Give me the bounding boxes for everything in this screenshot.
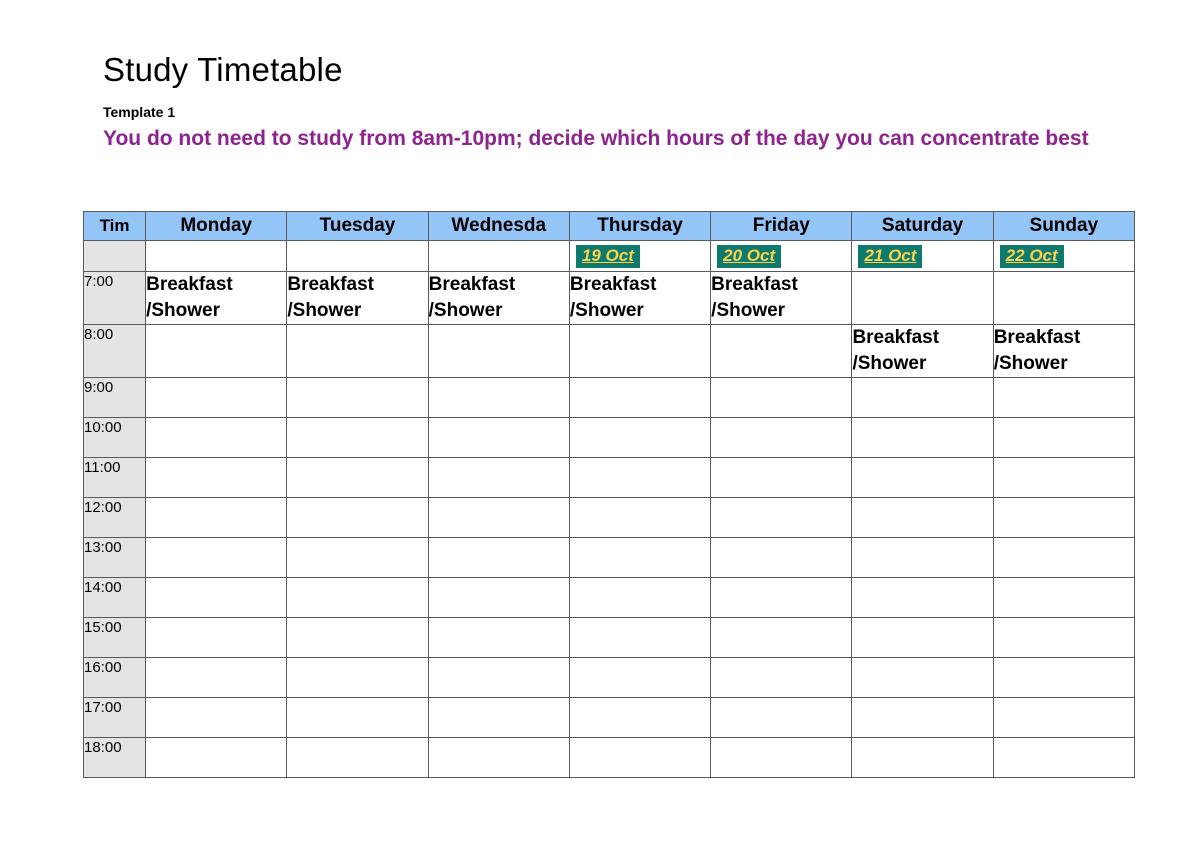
date-cell-wednesday[interactable] <box>428 241 569 272</box>
slot-wednesday-14-00[interactable] <box>428 578 569 618</box>
slot-friday-18-00[interactable] <box>711 738 852 778</box>
slot-friday-11-00[interactable] <box>711 458 852 498</box>
slot-entry: Breakfast /Shower <box>146 272 286 324</box>
slot-entry: Breakfast /Shower <box>287 272 427 324</box>
date-row-time-cell <box>84 241 146 272</box>
slot-sunday-14-00[interactable] <box>993 578 1134 618</box>
slot-saturday-7-00[interactable] <box>852 272 993 325</box>
date-badge-sunday: 22 Oct <box>1000 245 1064 268</box>
slot-thursday-17-00[interactable] <box>569 698 710 738</box>
slot-thursday-10-00[interactable] <box>569 418 710 458</box>
table-row: 13:00 <box>84 538 1135 578</box>
time-label-8-00: 8:00 <box>84 325 146 378</box>
date-badge-thursday: 19 Oct <box>576 245 640 268</box>
slot-sunday-13-00[interactable] <box>993 538 1134 578</box>
slot-tuesday-15-00[interactable] <box>287 618 428 658</box>
slot-sunday-10-00[interactable] <box>993 418 1134 458</box>
slot-saturday-18-00[interactable] <box>852 738 993 778</box>
slot-wednesday-18-00[interactable] <box>428 738 569 778</box>
slot-tuesday-9-00[interactable] <box>287 378 428 418</box>
slot-sunday-9-00[interactable] <box>993 378 1134 418</box>
slot-tuesday-14-00[interactable] <box>287 578 428 618</box>
date-row: 19 Oct20 Oct21 Oct22 Oct <box>84 241 1135 272</box>
column-header-friday: Friday <box>711 212 852 241</box>
table-row: 8:00Breakfast /ShowerBreakfast /Shower <box>84 325 1135 378</box>
timetable-body: 19 Oct20 Oct21 Oct22 Oct7:00Breakfast /S… <box>84 241 1135 778</box>
slot-entry: Breakfast /Shower <box>711 272 851 324</box>
slot-entry: Breakfast /Shower <box>994 325 1134 377</box>
slot-wednesday-8-00[interactable] <box>428 325 569 378</box>
table-row: 10:00 <box>84 418 1135 458</box>
slot-sunday-15-00[interactable] <box>993 618 1134 658</box>
column-header-wednesday: Wednesda <box>428 212 569 241</box>
time-label-11-00: 11:00 <box>84 458 146 498</box>
time-label-7-00: 7:00 <box>84 272 146 325</box>
date-cell-sunday[interactable]: 22 Oct <box>993 241 1134 272</box>
slot-friday-14-00[interactable] <box>711 578 852 618</box>
slot-wednesday-7-00[interactable]: Breakfast /Shower <box>428 272 569 325</box>
column-header-tuesday: Tuesday <box>287 212 428 241</box>
time-label-9-00: 9:00 <box>84 378 146 418</box>
slot-tuesday-18-00[interactable] <box>287 738 428 778</box>
slot-monday-7-00[interactable]: Breakfast /Shower <box>146 272 287 325</box>
slot-friday-16-00[interactable] <box>711 658 852 698</box>
slot-saturday-11-00[interactable] <box>852 458 993 498</box>
slot-sunday-16-00[interactable] <box>993 658 1134 698</box>
timetable-page: Study Timetable Template 1 You do not ne… <box>0 0 1200 849</box>
slot-monday-14-00[interactable] <box>146 578 287 618</box>
time-label-10-00: 10:00 <box>84 418 146 458</box>
time-label-14-00: 14:00 <box>84 578 146 618</box>
column-header-thursday: Thursday <box>569 212 710 241</box>
slot-thursday-18-00[interactable] <box>569 738 710 778</box>
table-header-row: Tim Monday Tuesday Wednesda Thursday Fri… <box>84 212 1135 241</box>
slot-monday-11-00[interactable] <box>146 458 287 498</box>
slot-sunday-18-00[interactable] <box>993 738 1134 778</box>
slot-friday-17-00[interactable] <box>711 698 852 738</box>
slot-entry: Breakfast /Shower <box>429 272 569 324</box>
slot-saturday-8-00[interactable]: Breakfast /Shower <box>852 325 993 378</box>
slot-tuesday-12-00[interactable] <box>287 498 428 538</box>
slot-tuesday-17-00[interactable] <box>287 698 428 738</box>
column-header-sunday: Sunday <box>993 212 1134 241</box>
table-row: 14:00 <box>84 578 1135 618</box>
column-header-saturday: Saturday <box>852 212 993 241</box>
slot-monday-9-00[interactable] <box>146 378 287 418</box>
time-label-17-00: 17:00 <box>84 698 146 738</box>
slot-tuesday-13-00[interactable] <box>287 538 428 578</box>
slot-friday-9-00[interactable] <box>711 378 852 418</box>
slot-thursday-11-00[interactable] <box>569 458 710 498</box>
slot-saturday-14-00[interactable] <box>852 578 993 618</box>
slot-saturday-17-00[interactable] <box>852 698 993 738</box>
slot-monday-13-00[interactable] <box>146 538 287 578</box>
table-row: 16:00 <box>84 658 1135 698</box>
date-badge-saturday: 21 Oct <box>858 245 922 268</box>
slot-monday-12-00[interactable] <box>146 498 287 538</box>
date-cell-saturday[interactable]: 21 Oct <box>852 241 993 272</box>
slot-monday-8-00[interactable] <box>146 325 287 378</box>
date-badge-friday: 20 Oct <box>717 245 781 268</box>
date-cell-thursday[interactable]: 19 Oct <box>569 241 710 272</box>
page-subtitle: You do not need to study from 8am-10pm; … <box>103 124 1123 153</box>
slot-tuesday-8-00[interactable] <box>287 325 428 378</box>
slot-monday-10-00[interactable] <box>146 418 287 458</box>
slot-monday-16-00[interactable] <box>146 658 287 698</box>
table-row: 11:00 <box>84 458 1135 498</box>
time-label-12-00: 12:00 <box>84 498 146 538</box>
slot-entry: Breakfast /Shower <box>852 325 992 377</box>
slot-saturday-13-00[interactable] <box>852 538 993 578</box>
slot-sunday-7-00[interactable] <box>993 272 1134 325</box>
slot-friday-7-00[interactable]: Breakfast /Shower <box>711 272 852 325</box>
table-row: 12:00 <box>84 498 1135 538</box>
table-row: 18:00 <box>84 738 1135 778</box>
column-header-time: Tim <box>84 212 146 241</box>
slot-tuesday-16-00[interactable] <box>287 658 428 698</box>
date-cell-friday[interactable]: 20 Oct <box>711 241 852 272</box>
slot-entry: Breakfast /Shower <box>570 272 710 324</box>
slot-sunday-12-00[interactable] <box>993 498 1134 538</box>
slot-wednesday-17-00[interactable] <box>428 698 569 738</box>
slot-saturday-12-00[interactable] <box>852 498 993 538</box>
slot-thursday-16-00[interactable] <box>569 658 710 698</box>
slot-sunday-8-00[interactable]: Breakfast /Shower <box>993 325 1134 378</box>
slot-wednesday-13-00[interactable] <box>428 538 569 578</box>
slot-sunday-11-00[interactable] <box>993 458 1134 498</box>
column-header-monday: Monday <box>146 212 287 241</box>
time-label-16-00: 16:00 <box>84 658 146 698</box>
slot-saturday-10-00[interactable] <box>852 418 993 458</box>
table-row: 15:00 <box>84 618 1135 658</box>
slot-thursday-8-00[interactable] <box>569 325 710 378</box>
slot-thursday-7-00[interactable]: Breakfast /Shower <box>569 272 710 325</box>
date-cell-monday[interactable] <box>146 241 287 272</box>
table-row: 17:00 <box>84 698 1135 738</box>
slot-thursday-12-00[interactable] <box>569 498 710 538</box>
slot-tuesday-11-00[interactable] <box>287 458 428 498</box>
date-cell-tuesday[interactable] <box>287 241 428 272</box>
time-label-15-00: 15:00 <box>84 618 146 658</box>
slot-friday-13-00[interactable] <box>711 538 852 578</box>
table-row: 9:00 <box>84 378 1135 418</box>
timetable-container: Tim Monday Tuesday Wednesda Thursday Fri… <box>83 211 1135 778</box>
slot-friday-12-00[interactable] <box>711 498 852 538</box>
slot-thursday-9-00[interactable] <box>569 378 710 418</box>
slot-wednesday-12-00[interactable] <box>428 498 569 538</box>
study-timetable: Tim Monday Tuesday Wednesda Thursday Fri… <box>83 211 1135 778</box>
slot-sunday-17-00[interactable] <box>993 698 1134 738</box>
template-label: Template 1 <box>103 104 175 121</box>
slot-wednesday-16-00[interactable] <box>428 658 569 698</box>
slot-tuesday-7-00[interactable]: Breakfast /Shower <box>287 272 428 325</box>
slot-wednesday-15-00[interactable] <box>428 618 569 658</box>
table-row: 7:00Breakfast /ShowerBreakfast /ShowerBr… <box>84 272 1135 325</box>
slot-wednesday-9-00[interactable] <box>428 378 569 418</box>
time-label-13-00: 13:00 <box>84 538 146 578</box>
slot-monday-17-00[interactable] <box>146 698 287 738</box>
slot-saturday-15-00[interactable] <box>852 618 993 658</box>
slot-thursday-15-00[interactable] <box>569 618 710 658</box>
page-title: Study Timetable <box>103 50 343 90</box>
slot-friday-8-00[interactable] <box>711 325 852 378</box>
slot-saturday-9-00[interactable] <box>852 378 993 418</box>
slot-thursday-13-00[interactable] <box>569 538 710 578</box>
slot-wednesday-10-00[interactable] <box>428 418 569 458</box>
slot-friday-10-00[interactable] <box>711 418 852 458</box>
slot-tuesday-10-00[interactable] <box>287 418 428 458</box>
slot-friday-15-00[interactable] <box>711 618 852 658</box>
slot-wednesday-11-00[interactable] <box>428 458 569 498</box>
slot-monday-15-00[interactable] <box>146 618 287 658</box>
time-label-18-00: 18:00 <box>84 738 146 778</box>
slot-saturday-16-00[interactable] <box>852 658 993 698</box>
slot-monday-18-00[interactable] <box>146 738 287 778</box>
slot-thursday-14-00[interactable] <box>569 578 710 618</box>
